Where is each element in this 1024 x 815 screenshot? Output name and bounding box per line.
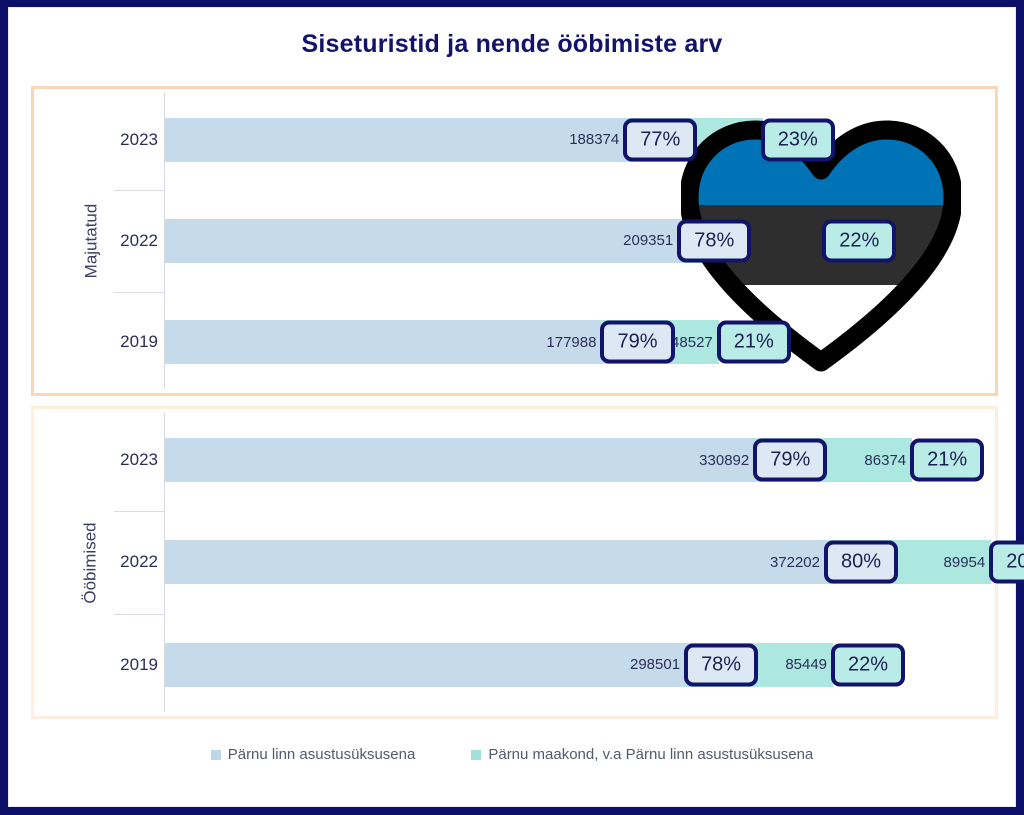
bar-percent-badge-series-b: 22%: [822, 219, 896, 262]
bar-percent-badge-series-b: 22%: [831, 643, 905, 686]
bar-value-series-a: 209351: [623, 232, 679, 249]
bar-percent-badge-series-a: 77%: [623, 118, 697, 161]
bar-percent-badge-series-a: 79%: [753, 439, 827, 482]
table-row: 2023 330892 79% 86374 21%: [110, 409, 989, 511]
stacked-bar: 177988 79% 48527 21%: [165, 320, 719, 364]
bar-segment-series-a[interactable]: 330892 79%: [165, 438, 755, 482]
row-year-label: 2022: [110, 552, 158, 572]
page-title: Siseturistid ja nende ööbimiste arv: [9, 30, 1015, 59]
bar-segment-series-a[interactable]: 177988 79%: [165, 320, 602, 364]
legend-item-series-b[interactable]: Pärnu maakond, v.a Pärnu linn asustusüks…: [471, 746, 813, 763]
bar-percent-badge-series-a: 78%: [684, 643, 758, 686]
chart-legend: Pärnu linn asustusüksusena Pärnu maakond…: [9, 746, 1015, 763]
legend-label-series-a: Pärnu linn asustusüksusena: [228, 746, 416, 763]
legend-item-series-a[interactable]: Pärnu linn asustusüksusena: [211, 746, 416, 763]
chart-panel-oobimised: Ööbimised 2023 330892 79% 86374: [31, 406, 998, 719]
stacked-bar: 330892 79% 86374 21%: [165, 438, 912, 482]
bar-value-series-a: 188374: [569, 131, 625, 148]
table-row: 2019 298501 78% 85449 22%: [110, 614, 989, 716]
chart-axis-label-majutatud: Majutatud: [74, 89, 108, 393]
bar-percent-badge-series-a: 80%: [824, 541, 898, 584]
legend-swatch-series-b: [471, 750, 481, 760]
bar-segment-series-a[interactable]: 209351 78%: [165, 219, 679, 263]
bar-segment-series-a[interactable]: 188374 77%: [165, 118, 625, 162]
chart-axis-label-oobimised: Ööbimised: [74, 409, 108, 716]
bar-value-series-b: 85449: [785, 656, 833, 673]
infographic-screen: Siseturistid ja nende ööbimiste arv Maju…: [0, 0, 1024, 815]
table-row: 2022 372202 80% 89954 20%: [110, 511, 989, 613]
stacked-bar: 298501 78% 85449 22%: [165, 643, 833, 687]
bar-value-series-b: 89954: [944, 554, 992, 571]
stacked-bar: 372202 80% 89954 20%: [165, 540, 991, 584]
row-year-label: 2023: [110, 130, 158, 150]
stacked-bar: 188374 77% 55560 23%: [165, 118, 763, 162]
row-year-label: 2019: [110, 332, 158, 352]
row-year-label: 2023: [110, 450, 158, 470]
bar-segment-series-a[interactable]: 372202 80%: [165, 540, 826, 584]
bar-value-series-a: 372202: [770, 554, 826, 571]
bar-value-series-a: 298501: [630, 656, 686, 673]
bar-percent-badge-series-b: 21%: [910, 439, 984, 482]
bar-percent-badge-series-b: 21%: [717, 321, 791, 364]
bar-percent-badge-series-a: 78%: [677, 219, 751, 262]
infographic-canvas: Siseturistid ja nende ööbimiste arv Maju…: [8, 7, 1016, 807]
bar-segment-series-a[interactable]: 298501 78%: [165, 643, 686, 687]
plot-area-oobimised: 2023 330892 79% 86374 21%: [110, 409, 989, 716]
row-year-label: 2019: [110, 655, 158, 675]
bar-percent-badge-series-b: 23%: [761, 118, 835, 161]
row-year-label: 2022: [110, 231, 158, 251]
legend-swatch-series-a: [211, 750, 221, 760]
legend-label-series-b: Pärnu maakond, v.a Pärnu linn asustusüks…: [488, 746, 813, 763]
bar-percent-badge-series-a: 79%: [600, 321, 674, 364]
stacked-bar: 209351 78% 60299 22%: [165, 219, 824, 263]
bar-value-series-a: 177988: [546, 334, 602, 351]
bar-percent-badge-series-b: 20%: [989, 541, 1024, 584]
bar-value-series-b: 86374: [864, 452, 912, 469]
bar-value-series-a: 330892: [699, 452, 755, 469]
